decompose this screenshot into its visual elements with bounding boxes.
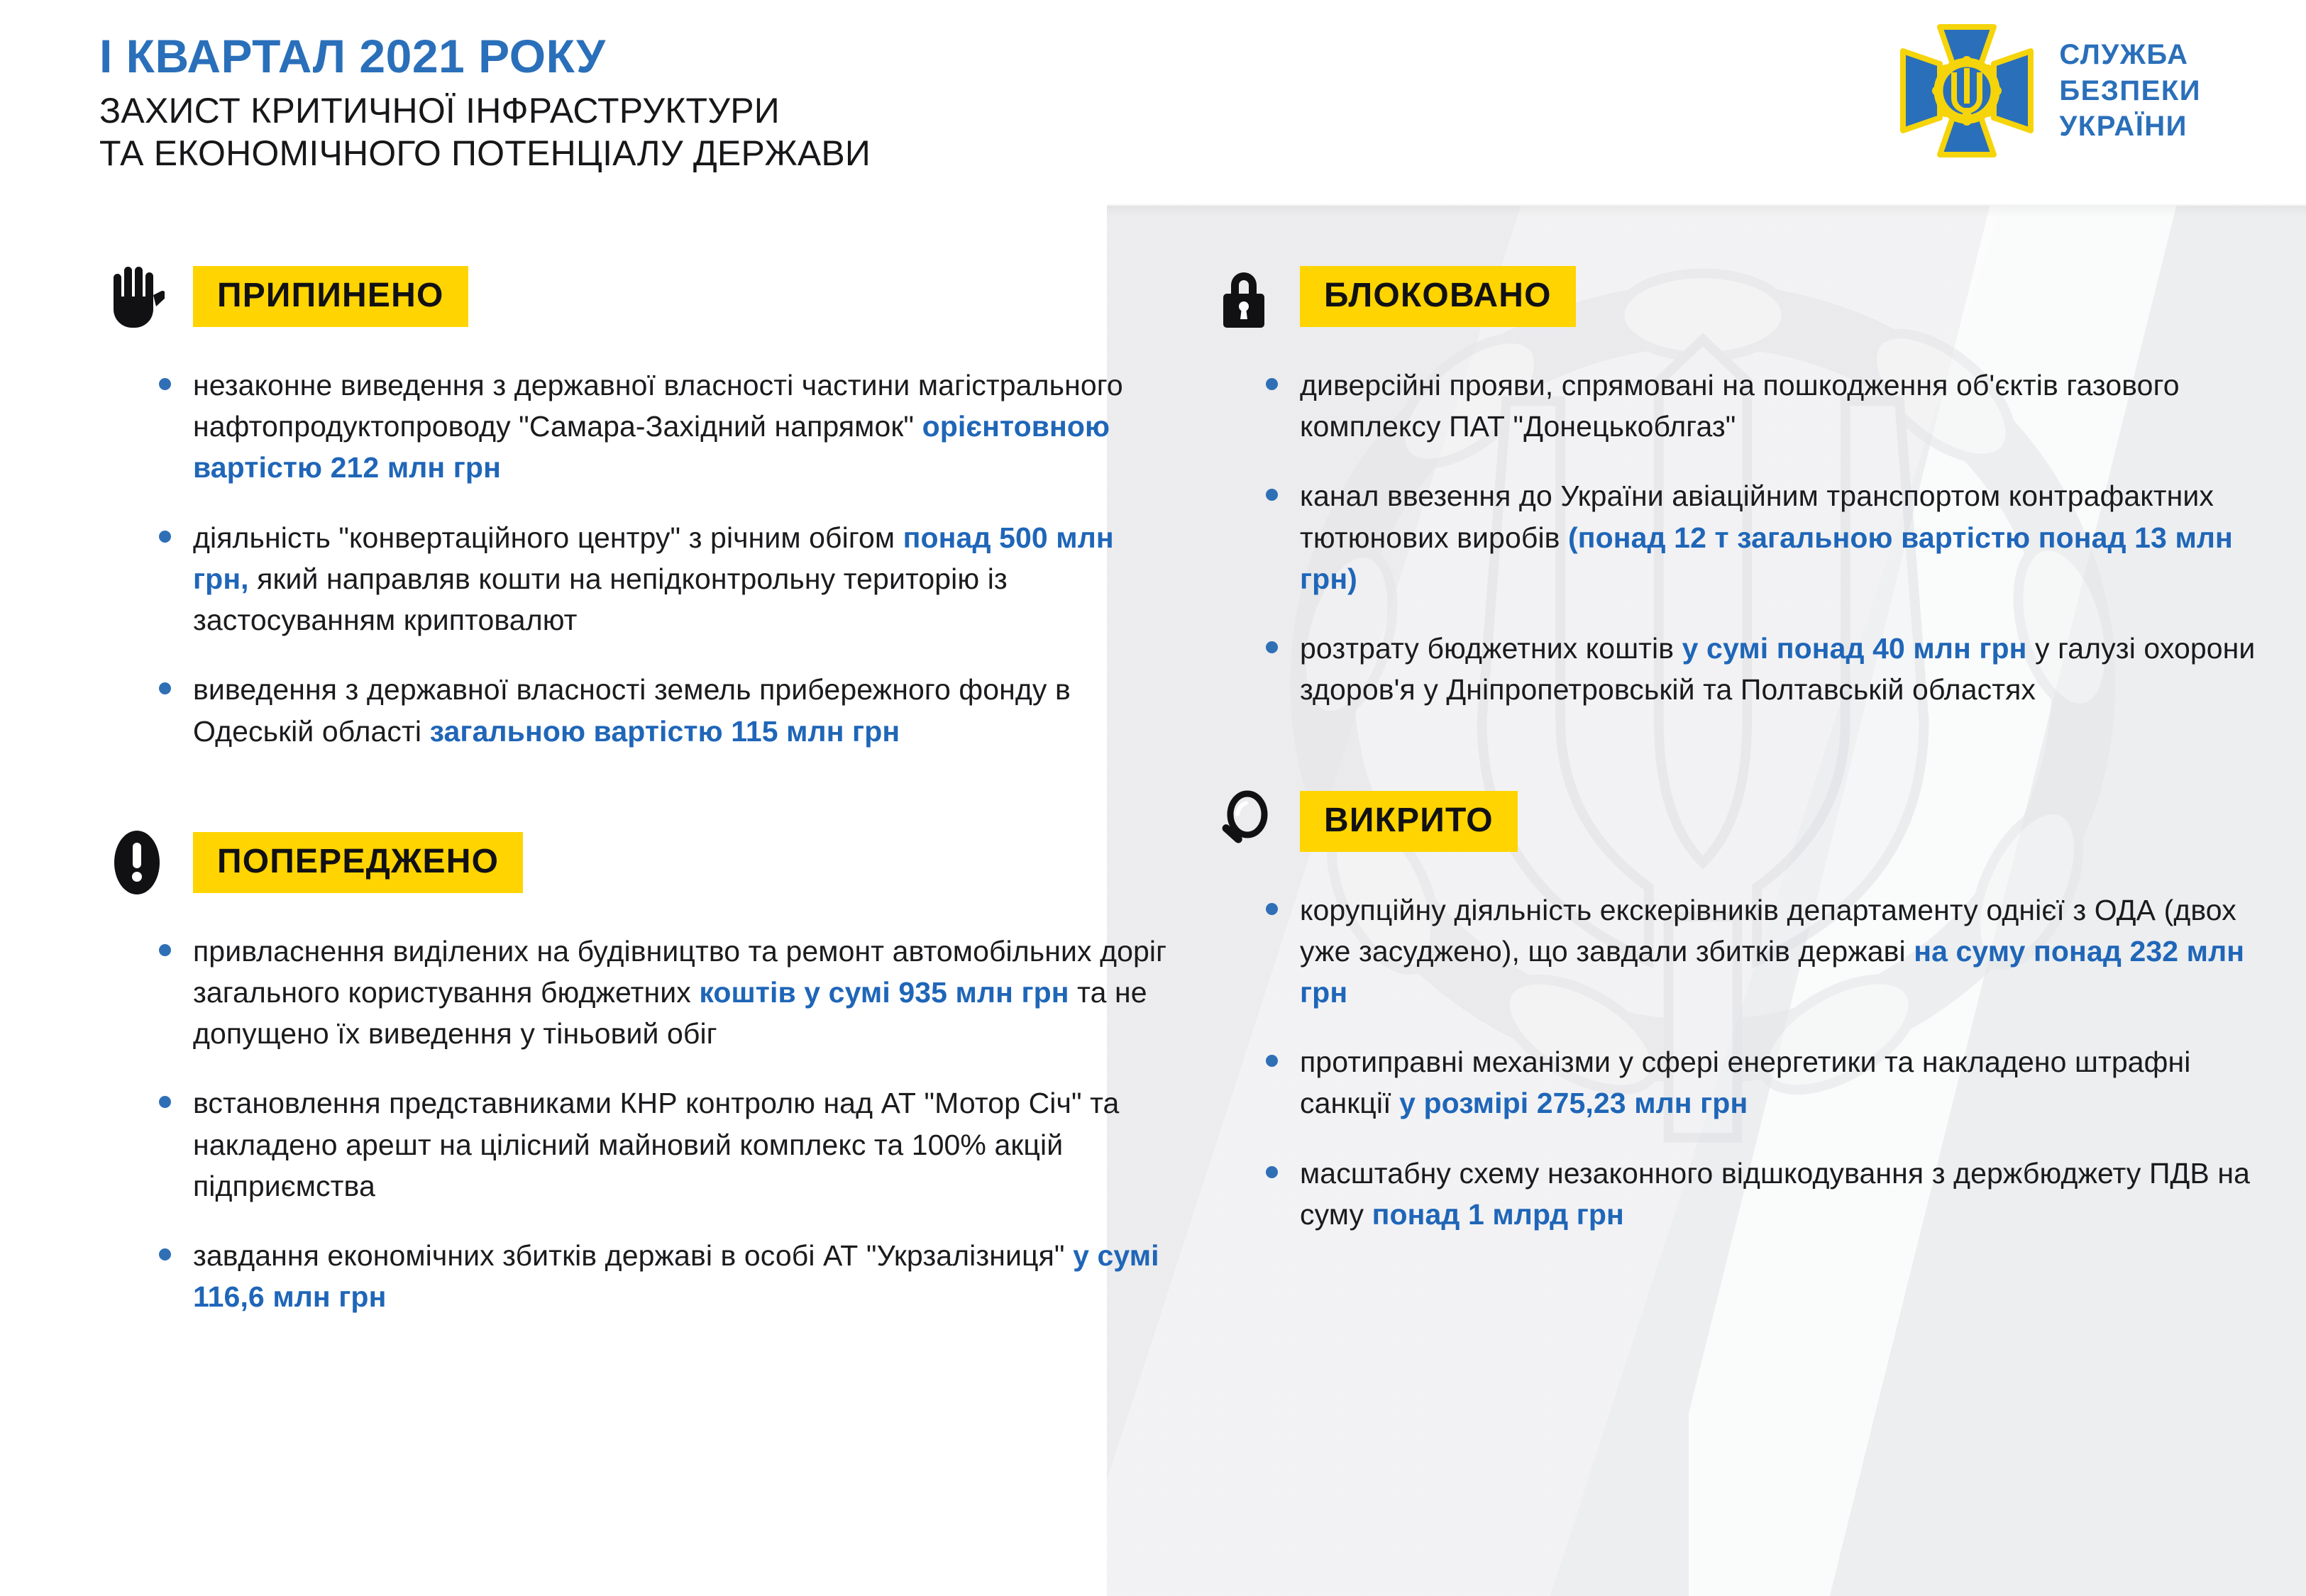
highlight-value: коштів у сумі 935 млн грн — [699, 976, 1069, 1009]
bullet-dot-icon — [159, 1248, 171, 1260]
bullet-list-blokovano: диверсійні прояви, спрямовані на пошкодж… — [1213, 365, 2263, 711]
section-header-vykryto: ВИКРИТО — [1213, 787, 2263, 855]
infographic-page: І КВАРТАЛ 2021 РОКУ ЗАХИСТ КРИТИЧНОЇ ІНФ… — [0, 0, 2306, 1596]
page-subtitle-line2: ТА ЕКОНОМІЧНОГО ПОТЕНЦІАЛУ ДЕРЖАВИ — [99, 133, 871, 174]
list-item: канал ввезення до України авіаційним тра… — [1300, 475, 2263, 599]
bullet-dot-icon — [159, 378, 171, 390]
list-item-text: диверсійні прояви, спрямовані на пошкодж… — [1300, 365, 2263, 447]
bullet-dot-icon — [159, 944, 171, 956]
section-header-poperedzheno: ПОПЕРЕДЖЕНО — [106, 829, 1171, 897]
bullet-dot-icon — [1266, 1166, 1278, 1178]
list-item-text: діяльність "конвертаційного центру" з рі… — [193, 517, 1171, 641]
list-item: незаконне виведення з державної власност… — [193, 365, 1171, 489]
header-shadow — [1107, 204, 2306, 217]
list-item-text: канал ввезення до України авіаційним тра… — [1300, 475, 2263, 599]
bullet-list-prypyneno: незаконне виведення з державної власност… — [106, 365, 1171, 752]
bullet-dot-icon — [1266, 378, 1278, 390]
list-item-text: встановлення представниками КНР контролю… — [193, 1082, 1171, 1207]
exclamation-oval-icon — [106, 829, 167, 897]
list-item: розтрату бюджетних коштів у сумі понад 4… — [1300, 628, 2263, 710]
section-badge-poperedzheno: ПОПЕРЕДЖЕНО — [193, 832, 523, 893]
bullet-dot-icon — [159, 531, 171, 543]
header-title-block: І КВАРТАЛ 2021 РОКУ ЗАХИСТ КРИТИЧНОЇ ІНФ… — [99, 33, 871, 174]
bullet-list-vykryto: корупційну діяльність екскерівників депа… — [1213, 890, 2263, 1236]
bullet-dot-icon — [1266, 1055, 1278, 1067]
bullet-dot-icon — [1266, 489, 1278, 501]
hand-stop-icon — [106, 262, 167, 331]
sbu-logo-text: СЛУЖБА БЕЗПЕКИ УКРАЇНИ — [2059, 37, 2201, 144]
list-item-text: корупційну діяльність екскерівників депа… — [1300, 890, 2263, 1014]
section-prypyneno: ПРИПИНЕНОнезаконне виведення з державної… — [106, 262, 1171, 752]
page-title: І КВАРТАЛ 2021 РОКУ — [99, 33, 871, 80]
list-item-text: протиправні механізми у сфері енергетики… — [1300, 1041, 2263, 1124]
section-poperedzheno: ПОПЕРЕДЖЕНОпривласнення виділених на буд… — [106, 829, 1171, 1318]
list-item: протиправні механізми у сфері енергетики… — [1300, 1041, 2263, 1124]
page-subtitle-line1: ЗАХИСТ КРИТИЧНОЇ ІНФРАСТРУКТУРИ — [99, 90, 871, 131]
section-badge-blokovano: БЛОКОВАНО — [1300, 266, 1576, 327]
left-column: ПРИПИНЕНОнезаконне виведення з державної… — [106, 262, 1171, 1318]
highlight-value: понад 1 млрд грн — [1372, 1198, 1624, 1231]
list-item-text: завдання економічних збитків державі в о… — [193, 1235, 1171, 1317]
highlight-value: у розмірі 275,23 млн грн — [1399, 1087, 1748, 1119]
section-header-blokovano: БЛОКОВАНО — [1213, 262, 2263, 331]
section-header-prypyneno: ПРИПИНЕНО — [106, 262, 1171, 331]
highlight-value: загальною вартістю 115 млн грн — [430, 715, 900, 748]
section-vykryto: ВИКРИТОкорупційну діяльність екскерівник… — [1213, 787, 2263, 1236]
bullet-dot-icon — [1266, 641, 1278, 653]
list-item-text: привласнення виділених на будівництво та… — [193, 931, 1171, 1055]
list-item: масштабну схему незаконного відшкодуванн… — [1300, 1153, 2263, 1235]
sbu-cross-emblem-icon — [1896, 20, 2038, 162]
bullet-dot-icon — [1266, 903, 1278, 915]
list-item: диверсійні прояви, спрямовані на пошкодж… — [1300, 365, 2263, 447]
sbu-logo-line3: УКРАЇНИ — [2059, 109, 2201, 144]
right-column: БЛОКОВАНОдиверсійні прояви, спрямовані н… — [1213, 262, 2263, 1235]
padlock-icon — [1213, 262, 1274, 331]
section-badge-vykryto: ВИКРИТО — [1300, 791, 1518, 852]
list-item: виведення з державної власності земель п… — [193, 669, 1171, 751]
sbu-logo-line2: БЕЗПЕКИ — [2059, 73, 2201, 109]
list-item-text: масштабну схему незаконного відшкодуванн… — [1300, 1153, 2263, 1235]
list-item: завдання економічних збитків державі в о… — [193, 1235, 1171, 1317]
list-item: встановлення представниками КНР контролю… — [193, 1082, 1171, 1207]
magnifier-icon — [1213, 787, 1274, 855]
list-item-text: незаконне виведення з державної власност… — [193, 365, 1171, 489]
section-badge-prypyneno: ПРИПИНЕНО — [193, 266, 468, 327]
bullet-dot-icon — [159, 682, 171, 694]
bullet-dot-icon — [159, 1096, 171, 1108]
list-item-text: розтрату бюджетних коштів у сумі понад 4… — [1300, 628, 2263, 710]
section-blokovano: БЛОКОВАНОдиверсійні прояви, спрямовані н… — [1213, 262, 2263, 711]
highlight-value: у сумі понад 40 млн грн — [1682, 632, 2027, 665]
sbu-logo: СЛУЖБА БЕЗПЕКИ УКРАЇНИ — [1896, 20, 2201, 162]
sbu-logo-line1: СЛУЖБА — [2059, 37, 2201, 72]
list-item-text: виведення з державної власності земель п… — [193, 669, 1171, 751]
list-item: корупційну діяльність екскерівників депа… — [1300, 890, 2263, 1014]
list-item: діяльність "конвертаційного центру" з рі… — [193, 517, 1171, 641]
bullet-list-poperedzheno: привласнення виділених на будівництво та… — [106, 931, 1171, 1318]
list-item: привласнення виділених на будівництво та… — [193, 931, 1171, 1055]
